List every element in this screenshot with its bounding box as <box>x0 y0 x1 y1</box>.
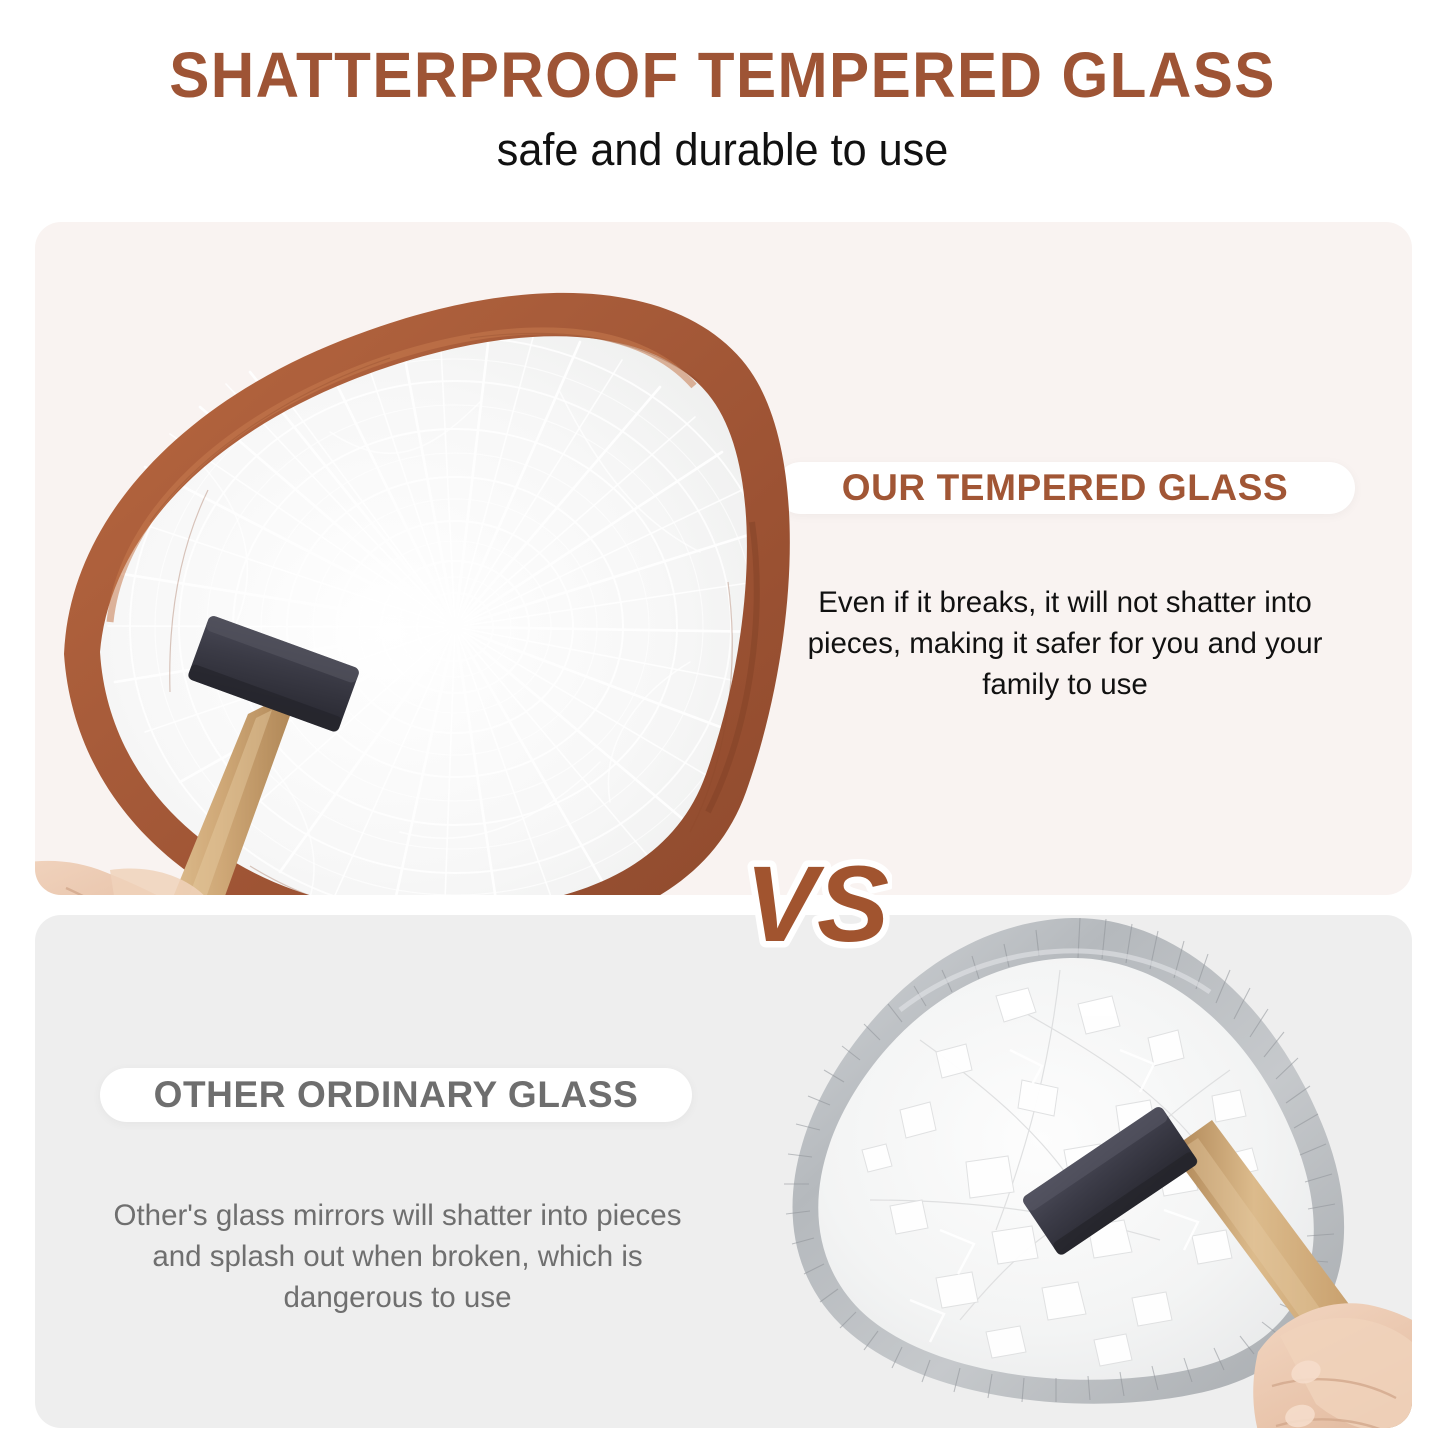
panel-ordinary-glass <box>35 915 1412 1428</box>
page-title: SHATTERPROOF TEMPERED GLASS <box>43 0 1401 110</box>
page-subtitle: safe and durable to use <box>29 110 1416 176</box>
panel-tempered-glass <box>35 222 1412 895</box>
description-other-ordinary-glass: Other's glass mirrors will shatter into … <box>105 1195 690 1318</box>
badge-label-our-tempered-glass: OUR TEMPERED GLASS <box>842 467 1289 509</box>
badge-other-ordinary-glass: OTHER ORDINARY GLASS <box>100 1068 692 1122</box>
badge-our-tempered-glass: OUR TEMPERED GLASS <box>775 462 1355 514</box>
vs-divider-badge: VS VS <box>742 845 892 970</box>
svg-text:VS: VS <box>745 845 889 964</box>
description-our-tempered-glass: Even if it breaks, it will not shatter i… <box>770 582 1360 705</box>
vs-icon: VS VS <box>742 845 892 970</box>
badge-label-other-ordinary-glass: OTHER ORDINARY GLASS <box>154 1074 639 1116</box>
page-header: SHATTERPROOF TEMPERED GLASS safe and dur… <box>0 0 1445 210</box>
